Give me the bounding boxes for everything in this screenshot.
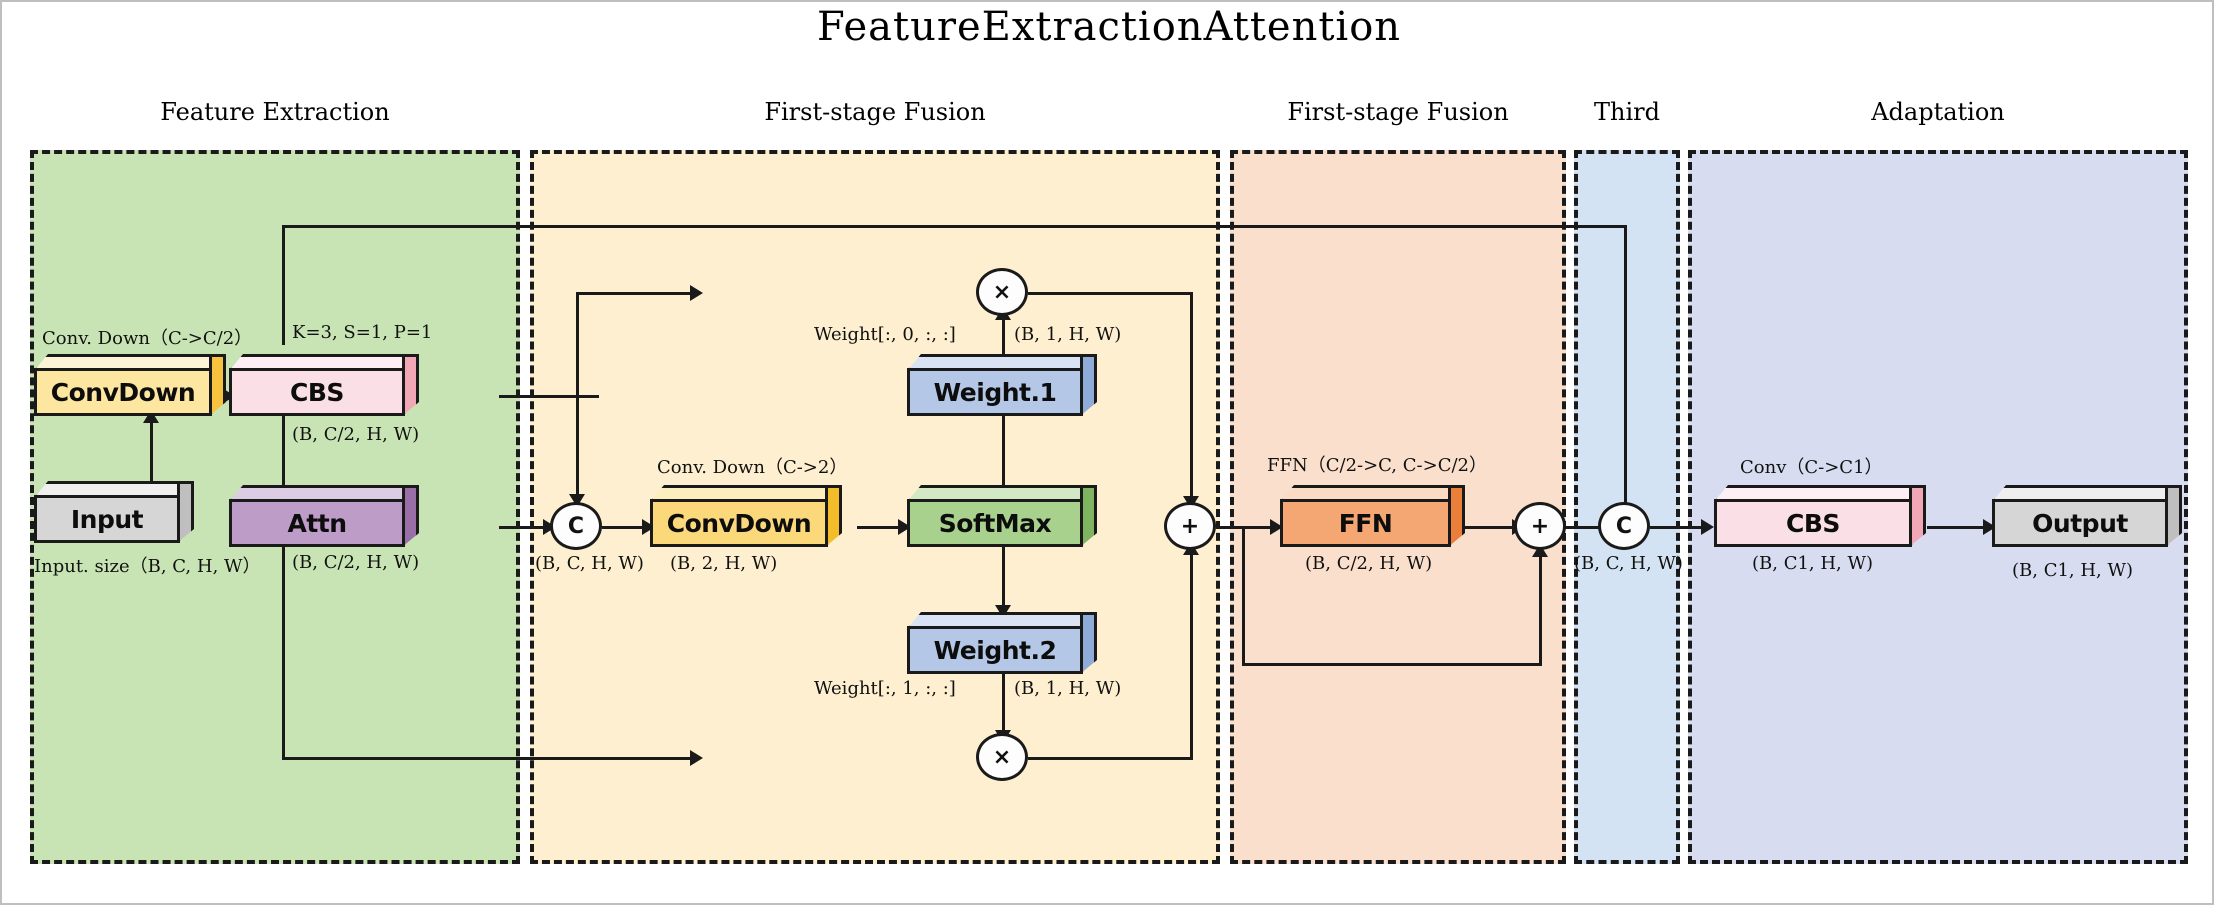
block-front-face: CBS xyxy=(229,368,405,416)
block-input[interactable]: Input xyxy=(34,481,194,543)
annotation-concat-2-shape: (B, C, H, W) xyxy=(1574,553,1683,574)
block-conv-down-1[interactable]: ConvDown xyxy=(34,354,226,416)
block-attn[interactable]: Attn xyxy=(229,485,419,547)
block-conv-down-2[interactable]: ConvDown xyxy=(650,485,842,547)
block-front-face: Input xyxy=(34,495,180,543)
block-weight-1[interactable]: Weight.1 xyxy=(907,354,1097,416)
block-output[interactable]: Output xyxy=(1992,485,2182,547)
annotation-weight-1-shape: (B, 1, H, W) xyxy=(1014,324,1121,345)
wire-concat2-to-cbs2 xyxy=(1650,526,1707,529)
wire-skip-down-to-concat2 xyxy=(1624,225,1627,525)
annotation-cbs-out-shape: (B, C/2, H, W) xyxy=(292,424,419,445)
op-multiply-top[interactable]: × xyxy=(976,268,1028,316)
panel-label-feature-extraction: Feature Extraction xyxy=(30,98,520,126)
arrowhead-concat2-to-cbs2 xyxy=(1701,519,1714,535)
block-front-face: FFN xyxy=(1280,499,1451,547)
block-weight-2[interactable]: Weight.2 xyxy=(907,612,1097,674)
wire-attn-down xyxy=(282,532,285,760)
wire-attn-to-concat1 xyxy=(499,526,549,529)
annotation-ffn-spec: FFN（C/2->C, C->C/2） xyxy=(1267,451,1487,477)
block-front-face: Weight.2 xyxy=(907,626,1083,674)
panel-label-first-stage-fusion: First-stage Fusion xyxy=(530,98,1220,126)
wire-cbs2-to-output xyxy=(1927,526,1989,529)
annotation-weight-2-index: Weight[:, 1, :, :] xyxy=(814,678,956,699)
annotation-conv-down-1-spec: Conv. Down（C->C/2） xyxy=(42,324,252,350)
op-add-2[interactable]: + xyxy=(1514,502,1566,550)
op-multiply-bottom[interactable]: × xyxy=(976,733,1028,781)
annotation-input-size: Input. size（B, C, H, W） xyxy=(34,552,261,578)
wire-cbs-branch-up xyxy=(576,292,579,398)
annotation-attn-out-shape: (B, C/2, H, W) xyxy=(292,552,419,573)
annotation-cbs-spec: K=3, S=1, P=1 xyxy=(292,322,432,343)
block-label: ConvDown xyxy=(51,378,195,407)
arrowhead-attn-to-mul-bottom xyxy=(690,750,703,766)
annotation-weight-2-shape: (B, 1, H, W) xyxy=(1014,678,1121,699)
block-label: FFN xyxy=(1339,509,1393,538)
block-label: CBS xyxy=(290,378,344,407)
page-title: FeatureExtractionAttention xyxy=(2,4,2214,50)
block-front-face: Output xyxy=(1992,499,2168,547)
op-add-1[interactable]: + xyxy=(1164,502,1216,550)
wire-mulbot-up-to-add1 xyxy=(1190,552,1193,760)
wire-cbs-top-stub xyxy=(282,225,285,345)
wire-attn-to-mul-bottom xyxy=(282,757,698,760)
annotation-output-shape: (B, C1, H, W) xyxy=(2012,560,2133,581)
arrowhead-cbs-to-mul-top xyxy=(690,285,703,301)
op-concat-1[interactable]: C xyxy=(550,502,602,550)
block-label: Input xyxy=(71,505,143,534)
op-concat-2[interactable]: C xyxy=(1598,502,1650,550)
wire-mulbot-to-add1 xyxy=(1028,757,1193,760)
wire-add1-to-ffn xyxy=(1216,526,1276,529)
panel-label-third: Third xyxy=(1574,98,1680,126)
wire-skip-cbs-to-concat2 xyxy=(282,225,1627,228)
annotation-conv-down-2-shape: (B, 2, H, W) xyxy=(670,553,777,574)
diagram-canvas: FeatureExtractionAttention Feature Extra… xyxy=(0,0,2214,905)
annotation-ffn-shape: (B, C/2, H, W) xyxy=(1305,553,1432,574)
wire-weight2-to-mul-bottom xyxy=(1002,674,1005,736)
annotation-cbs-2-shape: (B, C1, H, W) xyxy=(1752,553,1873,574)
wire-ffn-residual-across xyxy=(1242,663,1542,666)
block-ffn[interactable]: FFN xyxy=(1280,485,1465,547)
wire-cbs-branch-down-concat1 xyxy=(576,395,579,502)
block-cbs-1[interactable]: CBS xyxy=(229,354,419,416)
block-cbs-2[interactable]: CBS xyxy=(1714,485,1926,547)
block-front-face: CBS xyxy=(1714,499,1912,547)
block-front-face: SoftMax xyxy=(907,499,1083,547)
wire-cbs-to-mul-top xyxy=(576,292,698,295)
panel-label-adaptation: Adaptation xyxy=(1688,98,2188,126)
block-label: SoftMax xyxy=(939,509,1051,538)
block-label: CBS xyxy=(1786,509,1840,538)
block-label: ConvDown xyxy=(667,509,811,538)
block-front-face: Weight.1 xyxy=(907,368,1083,416)
block-label: Weight.2 xyxy=(934,636,1057,665)
annotation-concat-1-shape: (B, C, H, W) xyxy=(535,553,644,574)
panel-label-second-stage-fusion: First-stage Fusion xyxy=(1230,98,1566,126)
annotation-weight-1-index: Weight[:, 0, :, :] xyxy=(814,324,956,345)
wire-cbs-right-out xyxy=(499,395,599,398)
wire-softmax-to-weight2 xyxy=(1002,547,1005,613)
annotation-conv-down-2-spec: Conv. Down（C->2） xyxy=(657,453,847,479)
wire-multop-to-add1 xyxy=(1028,292,1193,295)
wire-ffn-residual-up xyxy=(1539,554,1542,666)
block-label: Weight.1 xyxy=(934,378,1057,407)
wire-multop-down-to-add1 xyxy=(1190,292,1193,504)
block-front-face: Attn xyxy=(229,499,405,547)
block-front-face: ConvDown xyxy=(650,499,828,547)
block-label: Output xyxy=(2032,509,2128,538)
block-front-face: ConvDown xyxy=(34,368,212,416)
block-softmax[interactable]: SoftMax xyxy=(907,485,1097,547)
annotation-cbs-2-spec: Conv（C->C1） xyxy=(1740,453,1883,479)
wire-ffn-residual-down xyxy=(1242,526,1245,666)
block-label: Attn xyxy=(287,509,346,538)
